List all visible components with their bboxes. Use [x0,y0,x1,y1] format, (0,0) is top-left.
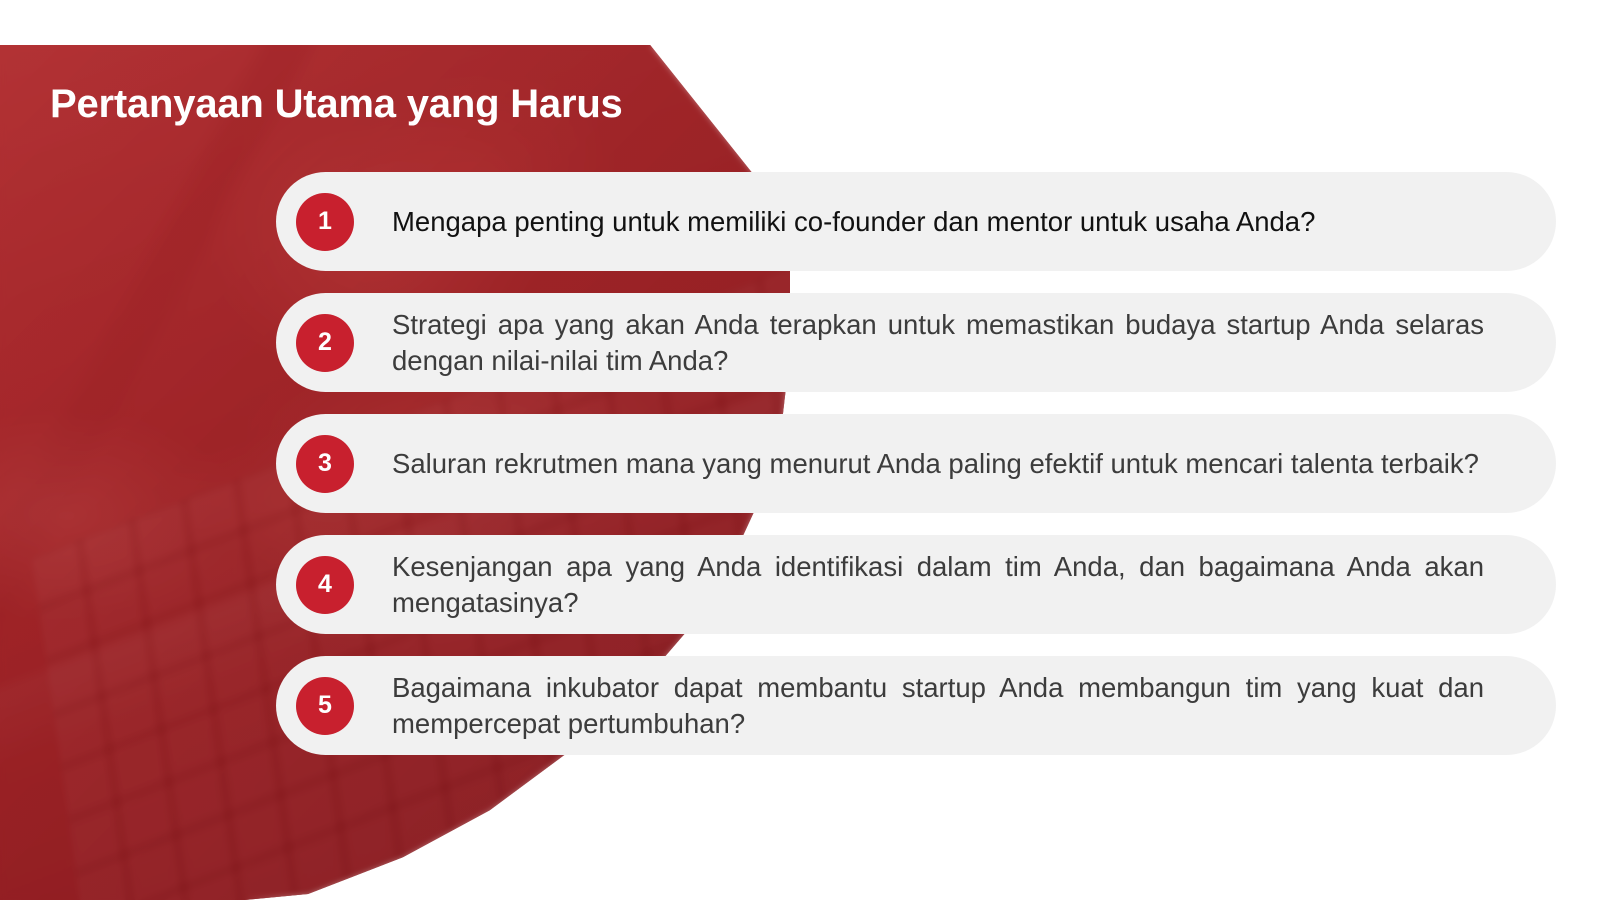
question-text: Bagaimana inkubator dapat membantu start… [392,670,1484,740]
question-card[interactable]: 2 Strategi apa yang akan Anda terapkan u… [276,293,1556,392]
question-card[interactable]: 4 Kesenjangan apa yang Anda identifikasi… [276,535,1556,634]
question-number-badge: 2 [296,314,354,372]
question-card[interactable]: 1 Mengapa penting untuk memiliki co-foun… [276,172,1556,271]
question-text: Strategi apa yang akan Anda terapkan unt… [392,307,1484,377]
question-card[interactable]: 3 Saluran rekrutmen mana yang menurut An… [276,414,1556,513]
question-card[interactable]: 5 Bagaimana inkubator dapat membantu sta… [276,656,1556,755]
presentation-slide: Pertanyaan Utama yang Harus 1 Mengapa pe… [0,0,1600,900]
page-title: Pertanyaan Utama yang Harus [50,82,750,127]
question-list: 1 Mengapa penting untuk memiliki co-foun… [276,172,1556,755]
question-number-badge: 5 [296,677,354,735]
question-number-badge: 3 [296,435,354,493]
question-number-badge: 4 [296,556,354,614]
question-text: Mengapa penting untuk memiliki co-founde… [392,204,1484,239]
question-text: Kesenjangan apa yang Anda identifikasi d… [392,549,1484,619]
question-number-badge: 1 [296,193,354,251]
question-text: Saluran rekrutmen mana yang menurut Anda… [392,446,1484,481]
